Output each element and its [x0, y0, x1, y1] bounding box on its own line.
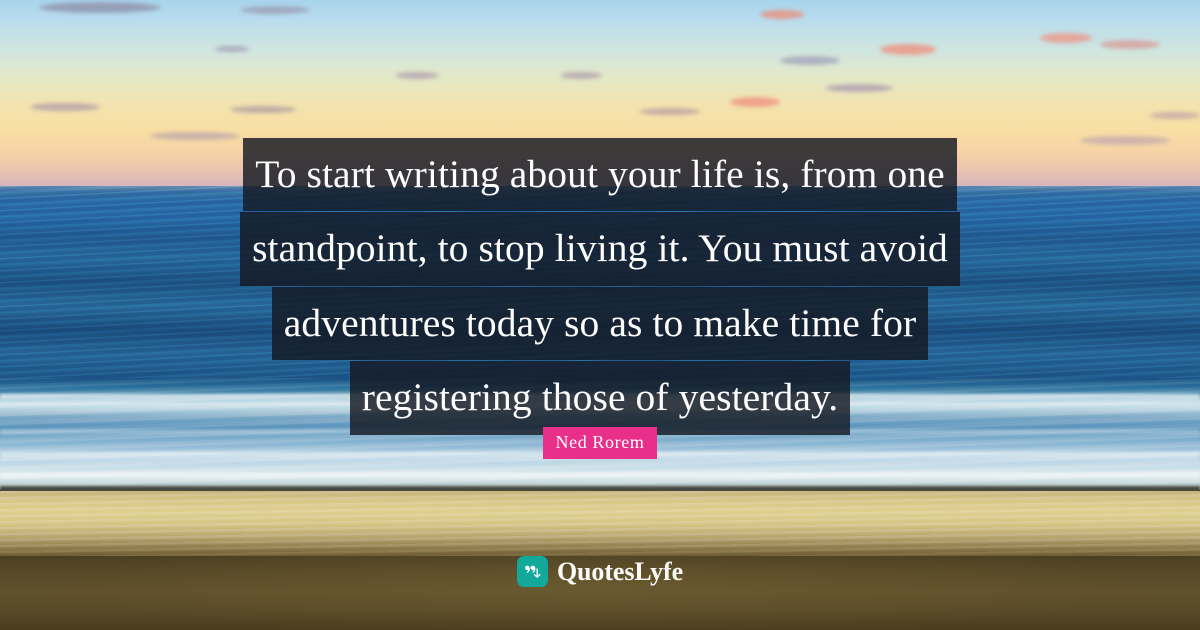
quote-line-text: registering those of yesterday.	[350, 361, 851, 434]
cloud	[240, 6, 310, 14]
site-name: QuotesLyfe	[557, 557, 683, 587]
quote-line: To start writing about your life is, fro…	[0, 138, 1200, 211]
cloud	[780, 56, 840, 65]
cloud	[40, 2, 160, 13]
quote-line: standpoint, to stop living it. You must …	[0, 212, 1200, 285]
cloud	[730, 97, 780, 107]
author-badge[interactable]: Ned Rorem	[0, 427, 1200, 459]
quote-marks-icon	[517, 556, 548, 587]
quote-line-text: To start writing about your life is, fro…	[243, 138, 957, 211]
cloud	[30, 103, 100, 111]
sand-layer	[0, 491, 1200, 561]
author-name: Ned Rorem	[543, 427, 658, 459]
cloud	[1100, 40, 1160, 49]
cloud	[395, 72, 439, 79]
cloud	[560, 72, 602, 79]
cloud	[825, 84, 893, 92]
site-logo[interactable]: QuotesLyfe	[0, 556, 1200, 587]
quote-line-text: standpoint, to stop living it. You must …	[240, 212, 960, 285]
cloud	[1040, 33, 1092, 43]
quote-card: To start writing about your life is, fro…	[0, 0, 1200, 630]
quote-line: registering those of yesterday.	[0, 361, 1200, 434]
cloud	[880, 44, 936, 55]
quote-line: adventures today so as to make time for	[0, 287, 1200, 360]
quote-line-text: adventures today so as to make time for	[272, 287, 928, 360]
quote-text: To start writing about your life is, fro…	[0, 138, 1200, 436]
cloud	[760, 10, 804, 19]
cloud	[1150, 112, 1200, 119]
wave-foam	[0, 473, 1200, 482]
cloud	[215, 46, 249, 52]
cloud	[640, 108, 700, 115]
cloud	[230, 106, 296, 113]
